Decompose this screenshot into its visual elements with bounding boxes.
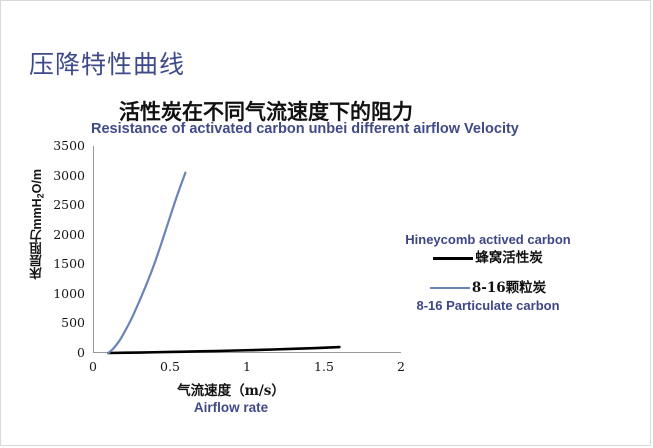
legend-item-particulate: 8-16颗粒炭 xyxy=(373,279,603,297)
y-tick-label: 1000 xyxy=(39,286,85,301)
plot-area xyxy=(93,146,401,353)
x-axis-title-chinese: 气流速度（m/s） xyxy=(1,379,461,399)
y-tick-label: 2500 xyxy=(39,197,85,212)
legend-label-honeycomb: 蜂窝活性炭 xyxy=(475,249,543,267)
legend-item-honeycomb: 蜂窝活性炭 xyxy=(373,249,603,267)
chart-legend: Hineycomb actived carbon 蜂窝活性炭 8-16颗粒炭 8… xyxy=(373,231,603,315)
slide-title: 压降特性曲线 xyxy=(29,45,185,81)
series-line-particulate xyxy=(108,173,185,353)
y-tick-label: 2000 xyxy=(39,227,85,242)
legend-swatch-blue xyxy=(430,287,470,289)
x-tick-label: 0.5 xyxy=(150,359,190,374)
x-tick-label: 2 xyxy=(381,359,421,374)
series-svg xyxy=(93,146,401,353)
y-tick-label: 3500 xyxy=(39,138,85,153)
y-tick-label: 3000 xyxy=(39,168,85,183)
legend-caption-bottom: 8-16 Particulate carbon xyxy=(373,297,603,315)
legend-swatch-black xyxy=(433,257,473,260)
y-tick-label: 500 xyxy=(39,315,85,330)
slide-canvas: 压降特性曲线 活性炭在不同气流速度下的阻力 Resistance of acti… xyxy=(0,0,651,446)
y-tick-label: 1500 xyxy=(39,256,85,271)
y-tick-label: 0 xyxy=(39,345,85,360)
legend-label-particulate: 8-16颗粒炭 xyxy=(472,279,546,297)
x-tick-label: 1 xyxy=(227,359,267,374)
legend-caption-top: Hineycomb actived carbon xyxy=(373,231,603,249)
x-axis-title-english: Airflow rate xyxy=(1,400,461,415)
series-line-honeycomb xyxy=(108,347,339,353)
x-tick-label: 1.5 xyxy=(304,359,344,374)
legend-spacer xyxy=(373,267,603,279)
x-tick-label: 0 xyxy=(73,359,113,374)
chart-title-english: Resistance of activated carbon unbei dif… xyxy=(91,121,519,137)
